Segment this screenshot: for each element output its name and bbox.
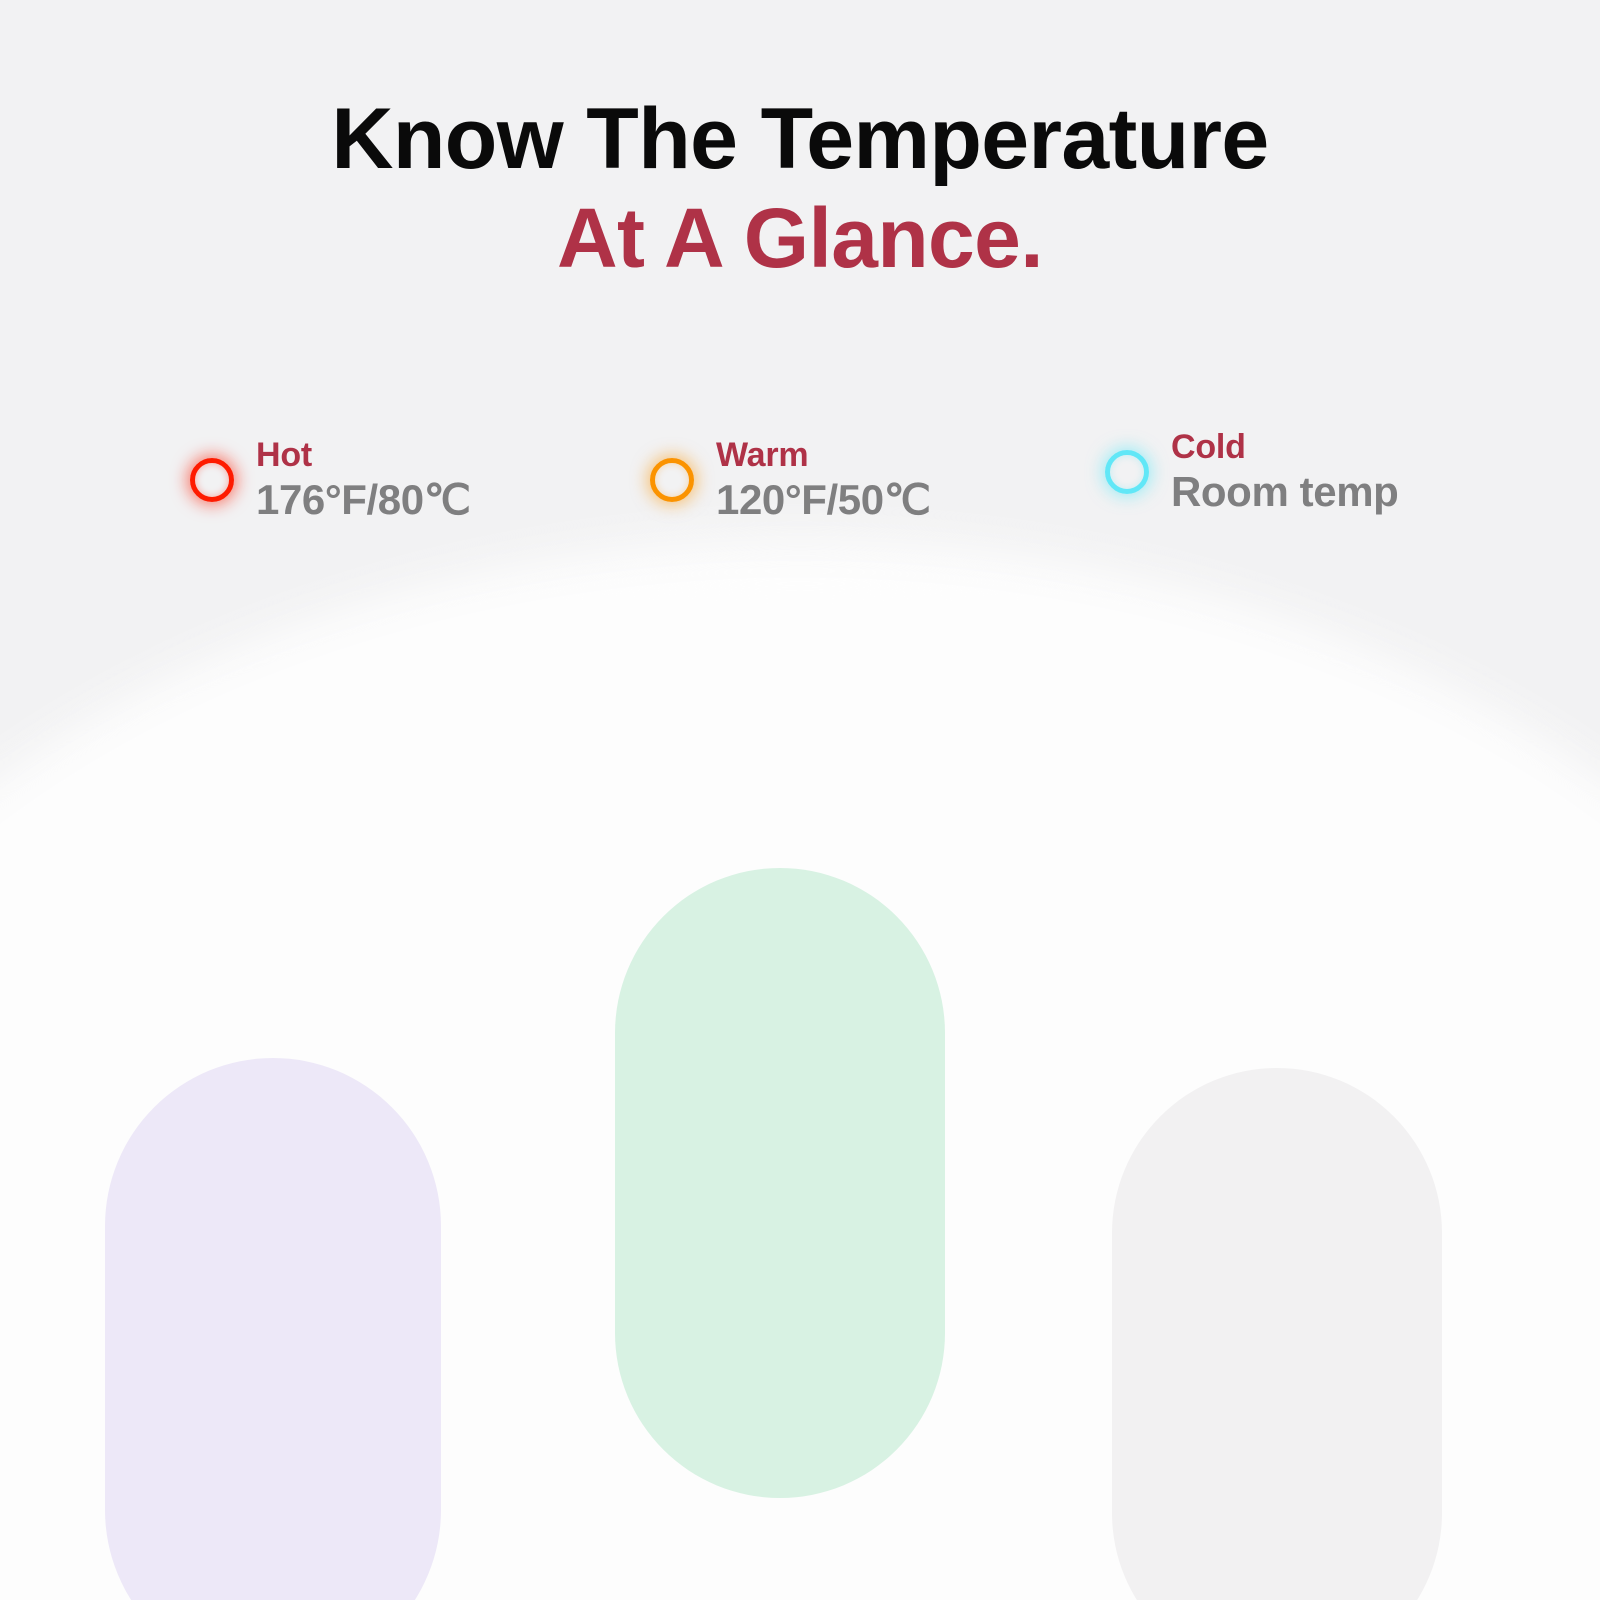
circle-outline-icon-warm bbox=[650, 458, 694, 502]
legend-text-hot: Hot 176°F/80℃ bbox=[256, 436, 470, 523]
legend-title-hot: Hot bbox=[256, 436, 470, 474]
pill-cold bbox=[105, 1058, 441, 1600]
circle-outline-icon-hot bbox=[190, 458, 234, 502]
legend-value-hot: 176°F/80℃ bbox=[256, 476, 470, 523]
pill-warm bbox=[1112, 1068, 1442, 1600]
headline-accent: At A Glance. bbox=[0, 196, 1600, 282]
legend-item-warm[interactable]: Warm 120°F/50℃ bbox=[650, 436, 930, 523]
legend-title-warm: Warm bbox=[716, 436, 930, 474]
legend-item-hot[interactable]: Hot 176°F/80℃ bbox=[190, 436, 470, 523]
legend-value-cold: Room temp bbox=[1171, 468, 1398, 515]
circle-outline-icon-cold bbox=[1105, 450, 1149, 494]
legend-title-cold: Cold bbox=[1171, 428, 1398, 466]
legend-text-cold: Cold Room temp bbox=[1171, 428, 1398, 515]
legend-value-warm: 120°F/50℃ bbox=[716, 476, 930, 523]
pill-hot bbox=[615, 868, 945, 1498]
page-title: Know The Temperature At A Glance. bbox=[0, 96, 1600, 281]
headline-primary: Know The Temperature bbox=[0, 96, 1600, 184]
legend-text-warm: Warm 120°F/50℃ bbox=[716, 436, 930, 523]
legend-item-cold[interactable]: Cold Room temp bbox=[1105, 428, 1398, 515]
